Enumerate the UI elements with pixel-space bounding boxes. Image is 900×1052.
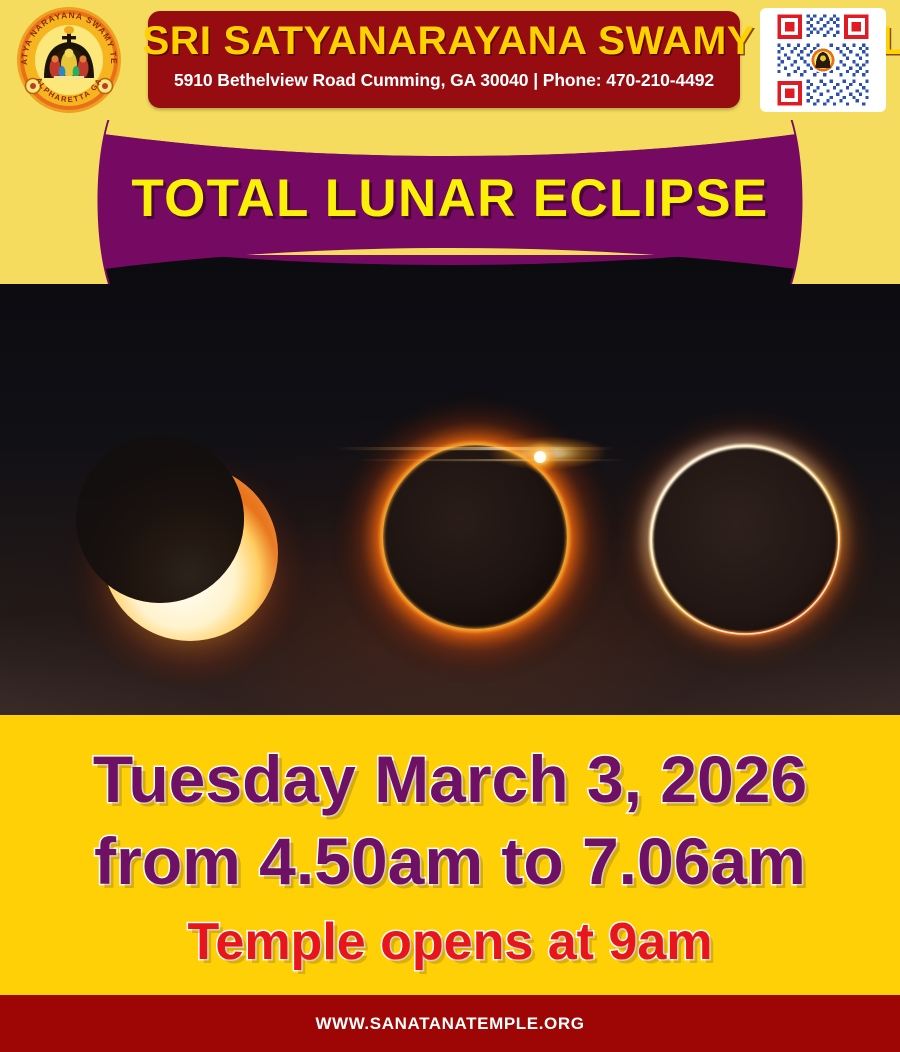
poster-footer: WWW.SANATANATEMPLE.ORG [0,995,900,1052]
event-time: from 4.50am to 7.06am [0,823,900,899]
totality-ring-phase [600,395,890,685]
eclipse-event-poster: SRI SATYA NARAYANA SWAMY TEMPLE ALPHARET… [0,0,900,1052]
temple-seal-logo: SRI SATYA NARAYANA SWAMY TEMPLE ALPHARET… [14,6,124,114]
banner-title: TOTAL LUNAR ECLIPSE [0,168,900,230]
temple-name: SRI SATYANARAYANA SWAMY TEMPLE [142,16,746,66]
event-date: Tuesday March 3, 2026 [0,741,900,817]
temple-address-phone: 5910 Bethelview Road Cumming, GA 30040 |… [148,69,740,91]
temple-opening-note: Temple opens at 9am [0,911,900,973]
diamond-ring-phase [325,385,625,695]
crescent-phase [40,395,340,695]
event-details: Tuesday March 3, 2026 from 4.50am to 7.0… [0,715,900,995]
temple-deity-icon [810,47,836,73]
eclipse-photo [0,255,900,717]
qr-code[interactable] [760,8,886,112]
poster-header: SRI SATYA NARAYANA SWAMY TEMPLE ALPHARET… [0,0,900,120]
temple-name-plate: SRI SATYANARAYANA SWAMY TEMPLE 5910 Beth… [148,11,740,108]
website-url[interactable]: WWW.SANATANATEMPLE.ORG [0,1013,900,1035]
